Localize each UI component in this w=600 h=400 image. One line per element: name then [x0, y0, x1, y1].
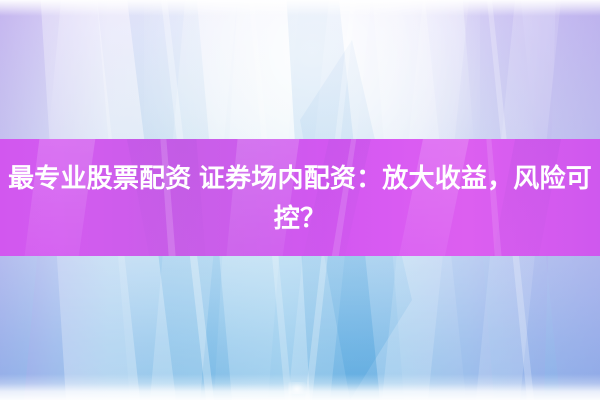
bottom-watermark-glint: [288, 382, 306, 394]
headline-band: 最专业股票配资 证券场内配资：放大收益，风险可控？: [0, 139, 600, 256]
headline-text: 最专业股票配资 证券场内配资：放大收益，风险可控？: [0, 158, 600, 238]
top-light-fade: [0, 0, 600, 16]
promo-banner: 最专业股票配资 证券场内配资：放大收益，风险可控？: [0, 0, 600, 400]
